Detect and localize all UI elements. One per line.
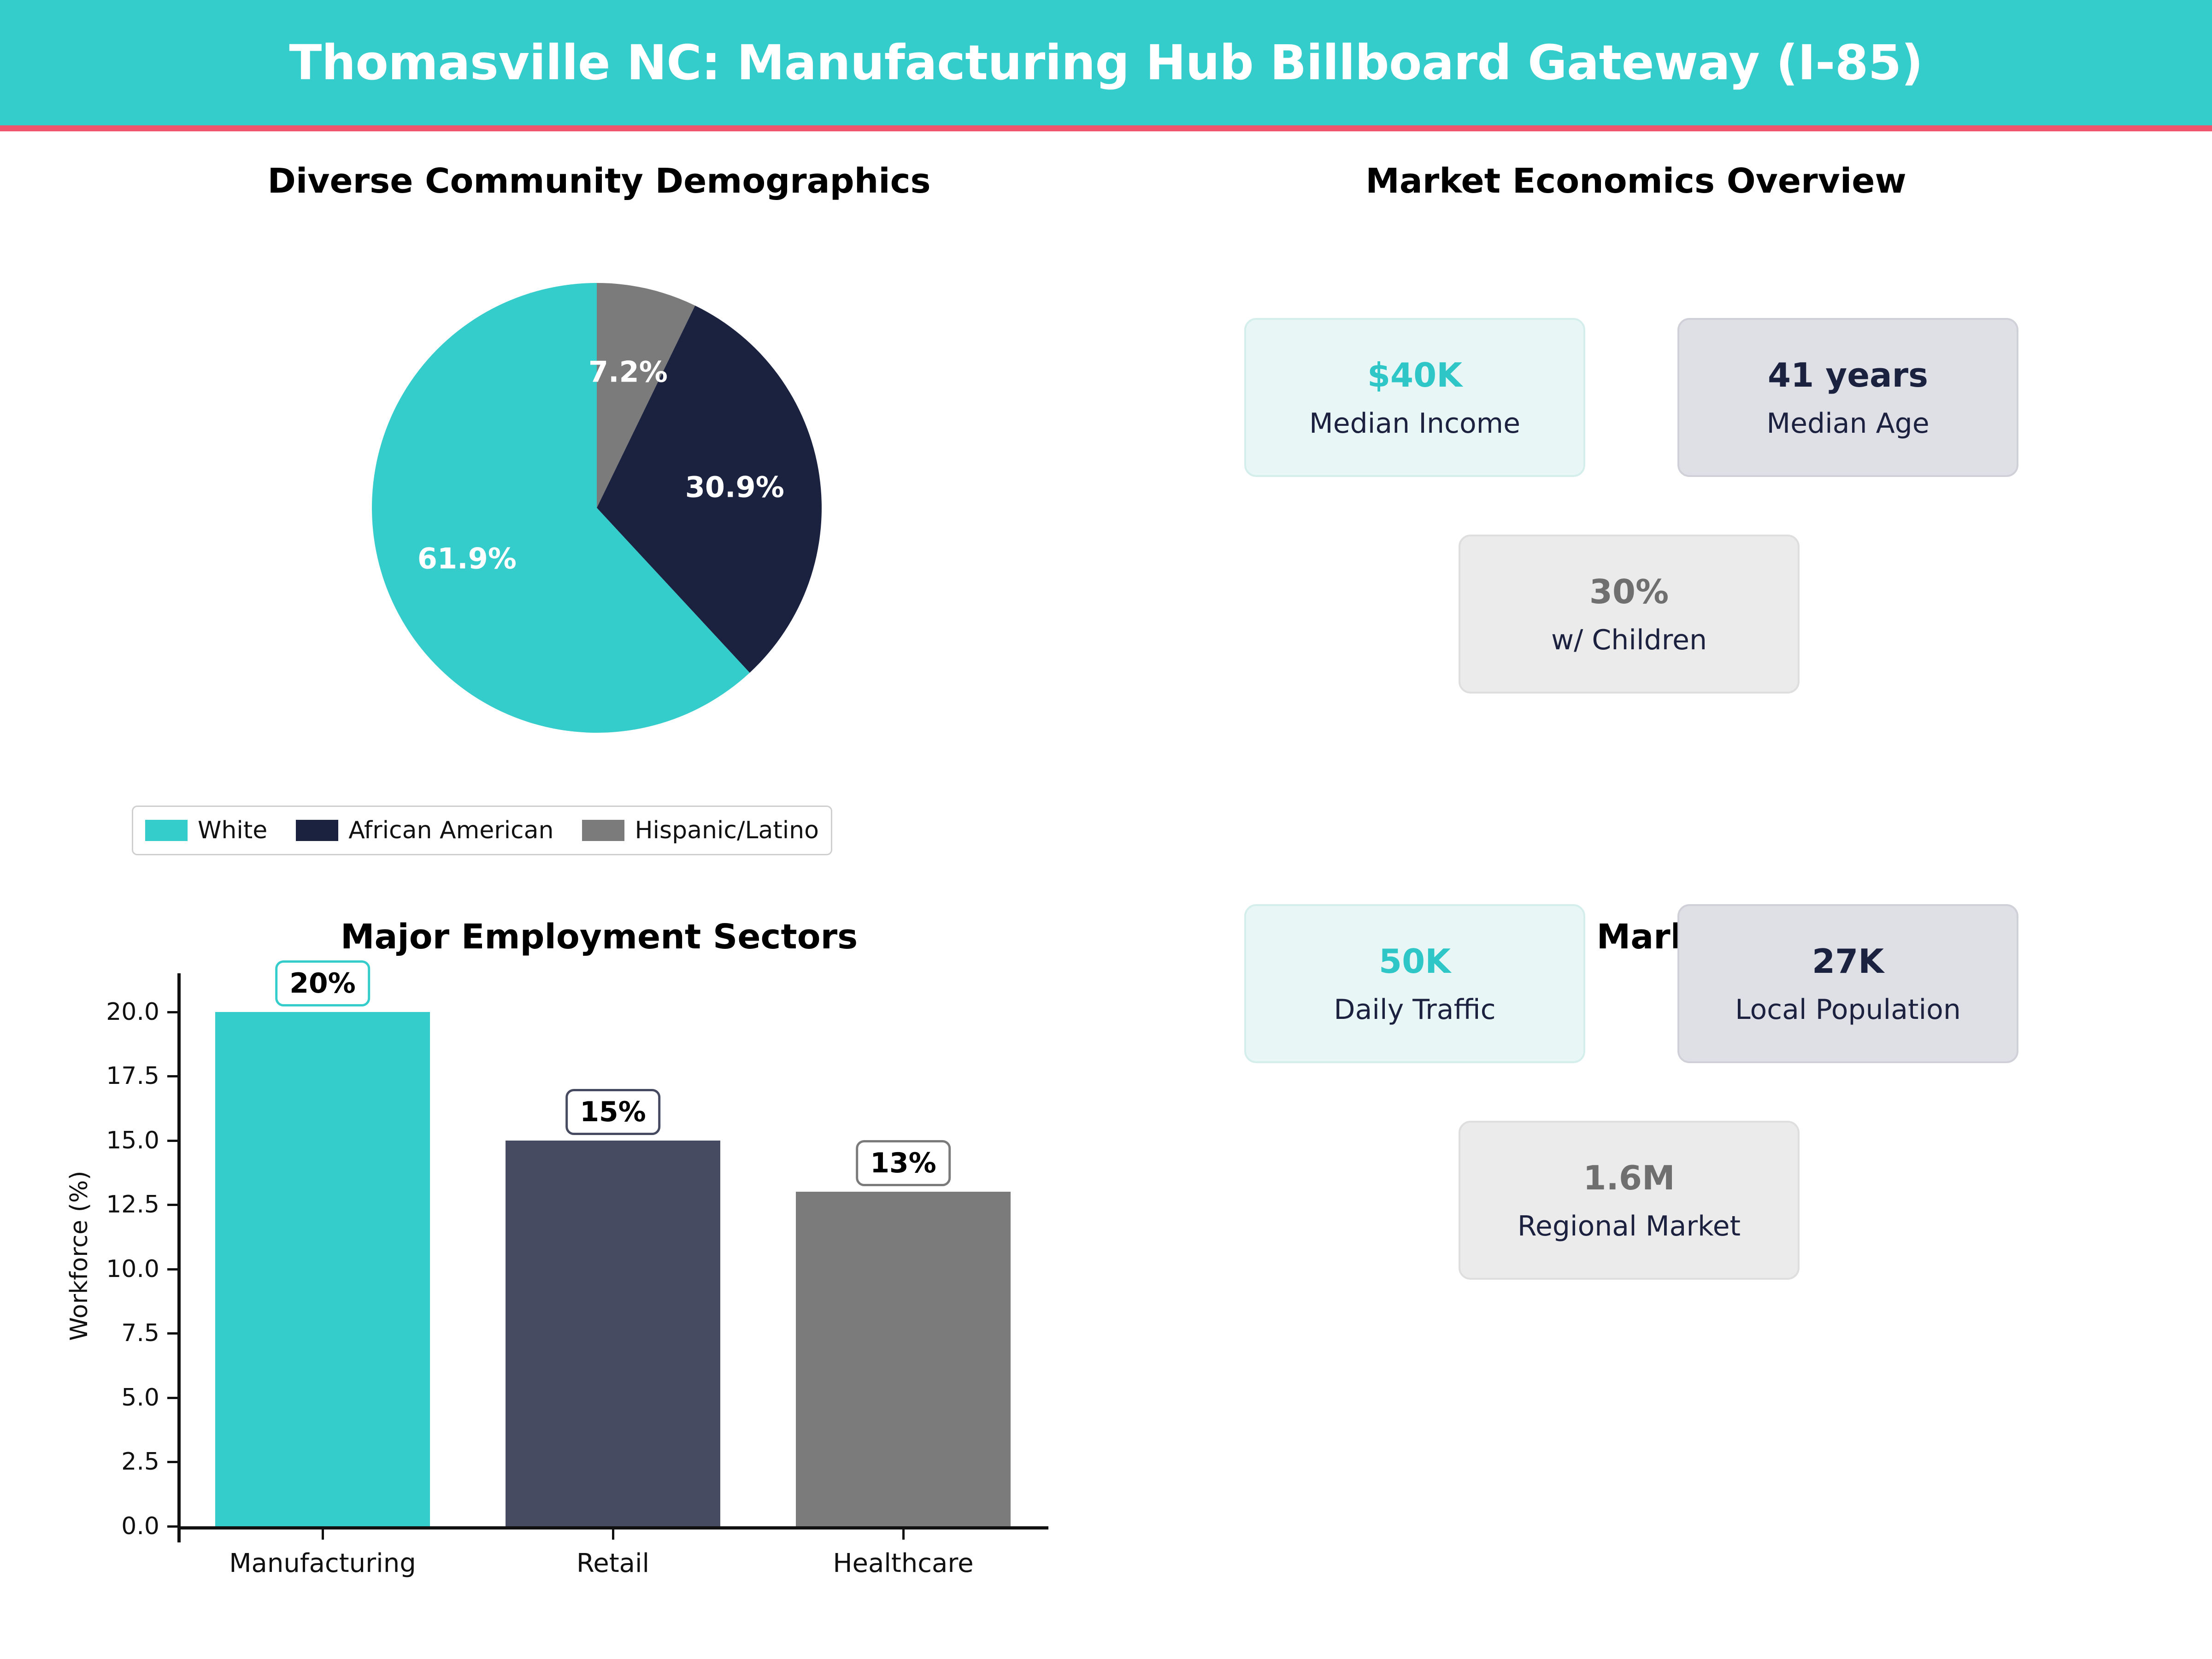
- bar[interactable]: [215, 1012, 430, 1526]
- y-tick-mark: [167, 1140, 177, 1142]
- kpi-value: 50K: [1379, 942, 1451, 981]
- kpi-label: w/ Children: [1551, 624, 1707, 656]
- demographics-pie-chart: 7.2%30.9%61.9%: [371, 282, 823, 734]
- y-tick-label: 17.5: [69, 1062, 159, 1090]
- y-tick-mark: [167, 1204, 177, 1206]
- reach-kpi-card[interactable]: 27KLocal Population: [1677, 904, 2018, 1063]
- x-tick-label: Healthcare: [833, 1548, 973, 1578]
- pie-slice-label: 7.2%: [588, 355, 668, 389]
- legend-label: White: [198, 817, 267, 844]
- y-tick-mark: [167, 1332, 177, 1335]
- x-tick-label: Manufacturing: [229, 1548, 416, 1578]
- economics-kpi-card[interactable]: 41 yearsMedian Age: [1677, 318, 2018, 477]
- pie-slice-label: 61.9%: [418, 542, 517, 576]
- kpi-value: 27K: [1812, 942, 1884, 981]
- reach-kpi-card[interactable]: 1.6MRegional Market: [1459, 1121, 1800, 1280]
- kpi-label: Median Income: [1309, 407, 1520, 440]
- y-tick-label: 12.5: [69, 1191, 159, 1218]
- sectors-chart-title: Major Employment Sectors: [115, 917, 1083, 957]
- economics-kpi-card[interactable]: $40KMedian Income: [1244, 318, 1585, 477]
- y-tick-mark: [167, 1075, 177, 1077]
- y-tick-label: 20.0: [69, 998, 159, 1026]
- bar-value-label: 13%: [856, 1140, 951, 1186]
- x-tick-label: Retail: [577, 1548, 649, 1578]
- y-tick-mark: [167, 1397, 177, 1399]
- kpi-label: Median Age: [1766, 407, 1929, 440]
- legend-swatch-icon: [145, 820, 188, 841]
- legend-swatch-icon: [582, 820, 624, 841]
- y-axis-spine: [177, 973, 181, 1542]
- page-title: Thomasville NC: Manufacturing Hub Billbo…: [0, 0, 2212, 125]
- kpi-value: 1.6M: [1583, 1159, 1675, 1197]
- x-tick-mark: [902, 1530, 905, 1540]
- legend-label: African American: [348, 817, 553, 844]
- y-tick-mark: [167, 1461, 177, 1463]
- kpi-label: Regional Market: [1518, 1210, 1741, 1242]
- economics-kpi-card[interactable]: 30%w/ Children: [1459, 535, 1800, 694]
- economics-panel-title: Market Economics Overview: [1221, 161, 2051, 201]
- y-tick-label: 5.0: [69, 1384, 159, 1412]
- y-tick-label: 0.0: [69, 1512, 159, 1540]
- kpi-label: Local Population: [1735, 994, 1961, 1026]
- y-tick-label: 10.0: [69, 1255, 159, 1283]
- dashboard-root: Thomasville NC: Manufacturing Hub Billbo…: [0, 0, 2212, 1659]
- employment-sectors-bar-chart: Workforce (%) 0.02.55.07.510.012.515.017…: [69, 959, 1074, 1613]
- y-tick-mark: [167, 1268, 177, 1271]
- bar[interactable]: [796, 1192, 1011, 1526]
- demographics-chart-title: Diverse Community Demographics: [115, 161, 1083, 201]
- legend-swatch-icon: [296, 820, 338, 841]
- bar-value-label: 15%: [565, 1089, 660, 1135]
- legend-label: Hispanic/Latino: [635, 817, 818, 844]
- kpi-label: Daily Traffic: [1334, 994, 1495, 1026]
- x-axis-spine: [177, 1526, 1048, 1530]
- header-accent-line: [0, 125, 2212, 131]
- kpi-value: 30%: [1589, 572, 1669, 611]
- x-tick-mark: [322, 1530, 324, 1540]
- y-tick-mark: [167, 1011, 177, 1013]
- bar[interactable]: [506, 1141, 720, 1526]
- y-tick-label: 15.0: [69, 1127, 159, 1154]
- legend-item[interactable]: African American: [296, 817, 553, 844]
- legend-item[interactable]: White: [145, 817, 267, 844]
- pie-legend: WhiteAfrican AmericanHispanic/Latino: [132, 806, 832, 855]
- kpi-value: $40K: [1367, 356, 1462, 394]
- pie-slice-label: 30.9%: [685, 471, 784, 504]
- y-tick-label: 2.5: [69, 1448, 159, 1476]
- kpi-value: 41 years: [1768, 356, 1928, 394]
- legend-item[interactable]: Hispanic/Latino: [582, 817, 818, 844]
- bar-value-label: 20%: [275, 960, 370, 1006]
- pie-svg: [371, 282, 823, 734]
- y-tick-label: 7.5: [69, 1319, 159, 1347]
- x-tick-mark: [612, 1530, 614, 1540]
- reach-kpi-card[interactable]: 50KDaily Traffic: [1244, 904, 1585, 1063]
- y-tick-mark: [167, 1525, 177, 1528]
